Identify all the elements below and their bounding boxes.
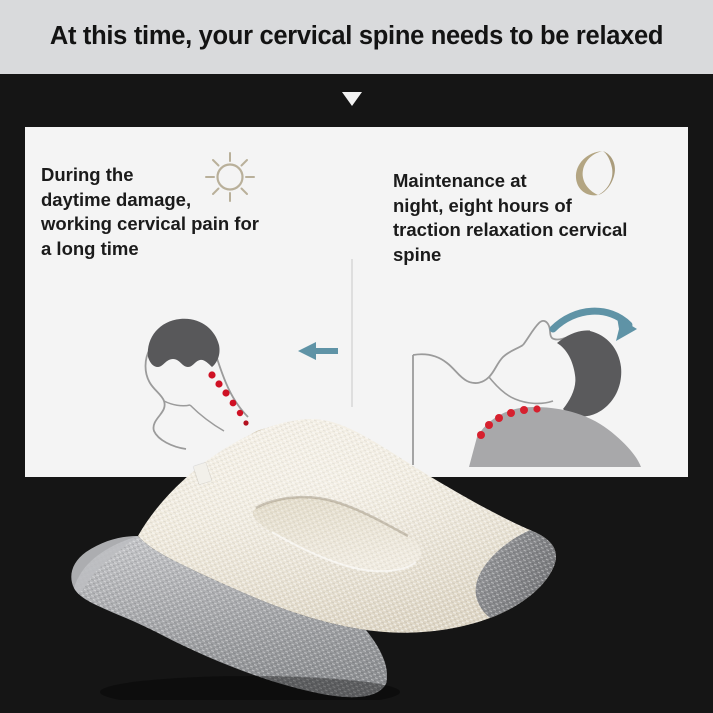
- night-description-text: Maintenance at night, eight hours of tra…: [393, 169, 678, 267]
- header-banner: At this time, your cervical spine needs …: [0, 0, 713, 74]
- arrow-left-icon: [298, 342, 338, 360]
- column-divider: [351, 259, 353, 407]
- cervical-support-pillow: [60, 400, 620, 700]
- infographic-page: At this time, your cervical spine needs …: [0, 0, 713, 713]
- triangle-down-shape: [342, 92, 362, 106]
- triangle-down-icon: [342, 90, 363, 108]
- daytime-description-text: During the daytime damage, working cervi…: [41, 163, 341, 261]
- page-title: At this time, your cervical spine needs …: [50, 24, 663, 50]
- sun-icon: [201, 148, 259, 206]
- moon-icon: [567, 147, 619, 199]
